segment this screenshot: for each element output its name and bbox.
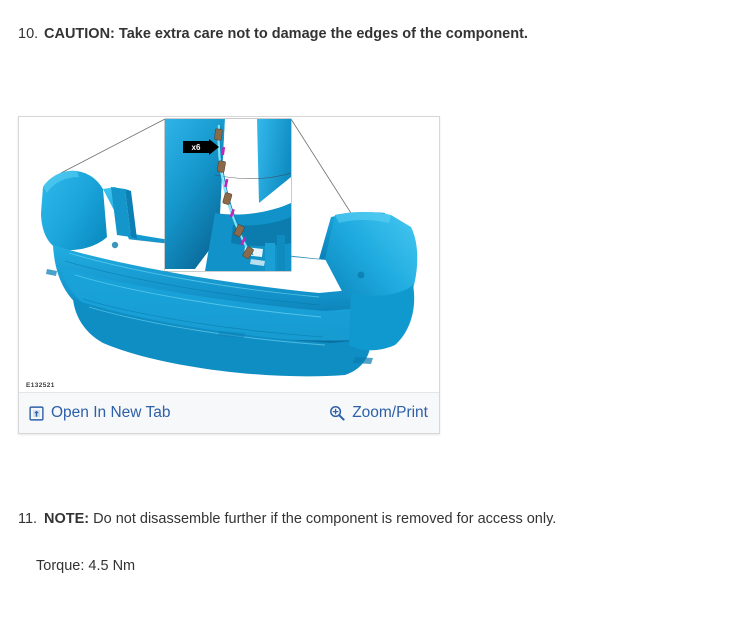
zoom-print-label: Zoom/Print: [352, 404, 428, 422]
step-sentence: Take extra care not to damage the edges …: [115, 26, 528, 42]
illustration-toolbar: Open In New Tab Zoom/Print: [19, 392, 439, 433]
procedure-step-11: 11. NOTE: Do not disassemble further if …: [18, 510, 556, 530]
torque-specification: Torque: 4.5 Nm: [36, 558, 135, 574]
bumper-illustration-graphic: x6: [19, 117, 439, 394]
open-in-new-tab-button[interactable]: Open In New Tab: [28, 404, 170, 422]
step-keyword: CAUTION:: [44, 26, 115, 42]
callout-label: x6: [192, 143, 201, 152]
inset-detail-box: x6: [165, 119, 291, 271]
figure-id-label: E132521: [26, 382, 55, 389]
step-text: CAUTION: Take extra care not to damage t…: [44, 25, 528, 45]
procedure-step-10: 10. CAUTION: Take extra care not to dama…: [18, 25, 528, 45]
zoom-print-button[interactable]: Zoom/Print: [329, 404, 428, 422]
open-in-new-window-icon: [28, 405, 44, 421]
open-in-new-tab-label: Open In New Tab: [51, 404, 170, 422]
step-number: 10.: [18, 25, 44, 45]
step-number: 11.: [18, 510, 44, 530]
illustration-image[interactable]: x6 E132521: [19, 117, 439, 394]
step-sentence: Do not disassemble further if the compon…: [89, 511, 556, 527]
illustration-viewer-panel: x6 E132521 Open In New Tab: [18, 116, 440, 434]
magnifier-plus-icon: [329, 405, 345, 421]
step-text: NOTE: Do not disassemble further if the …: [44, 510, 556, 530]
step-keyword: NOTE:: [44, 511, 89, 527]
